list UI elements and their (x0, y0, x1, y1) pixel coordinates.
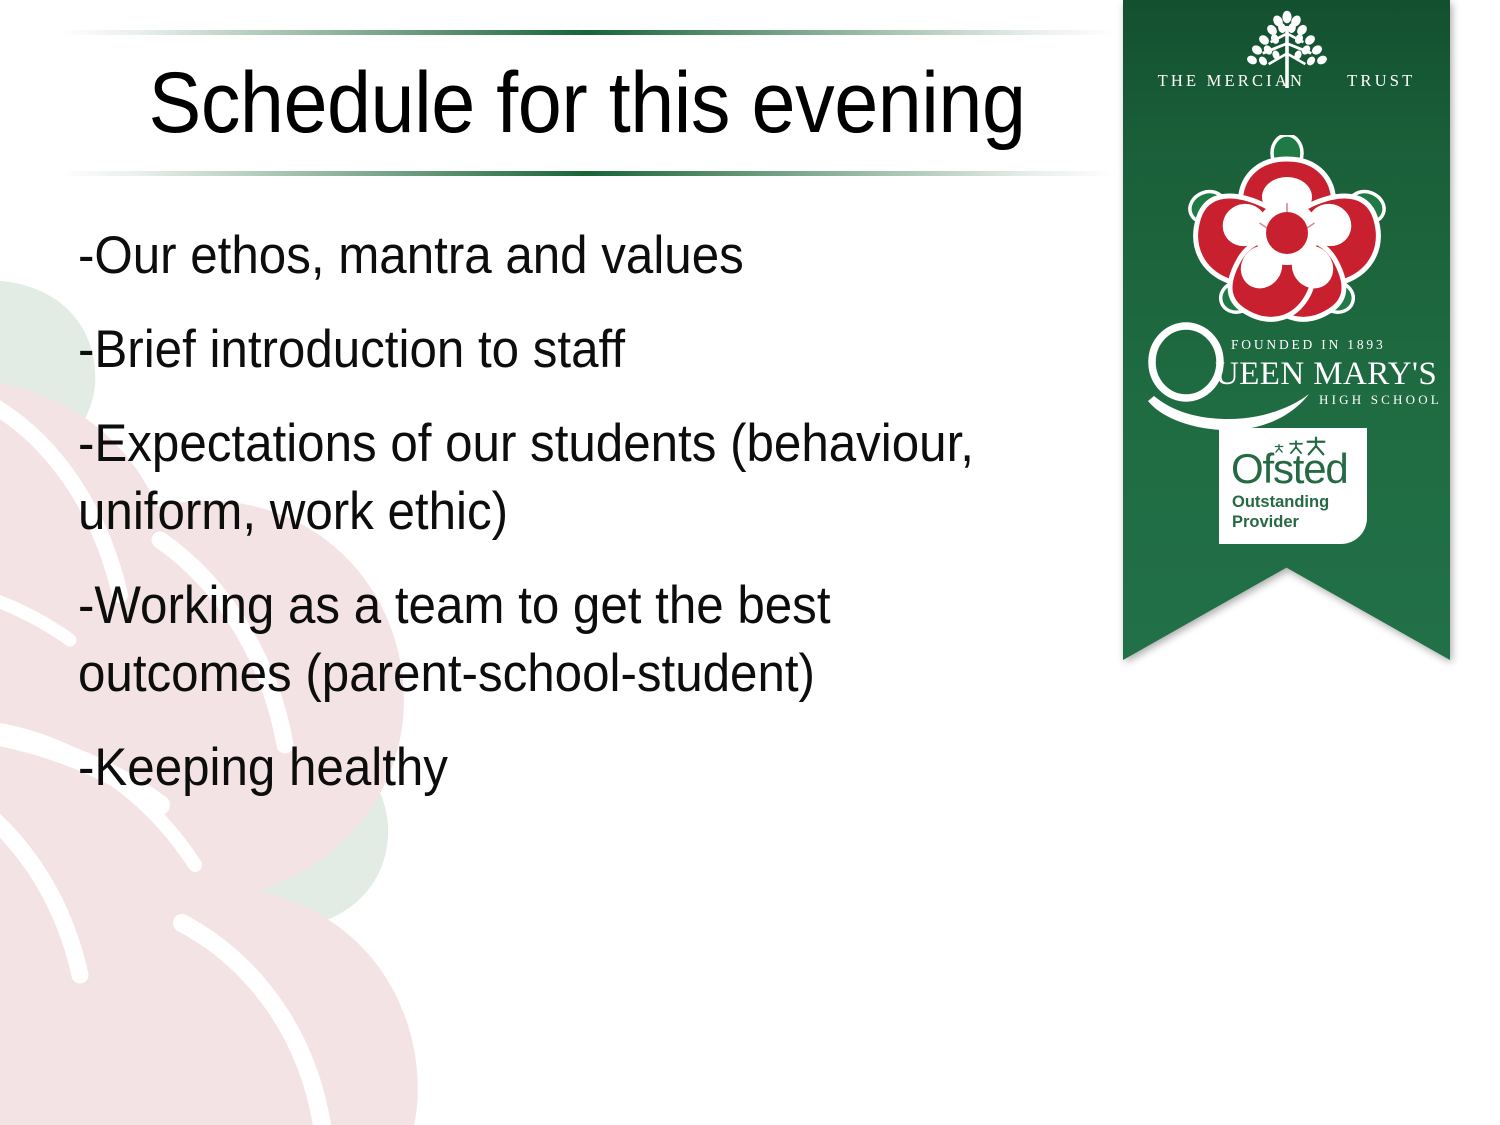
presentation-slide: Schedule for this evening -Our ethos, ma… (0, 0, 1500, 1125)
page-title: Schedule for this evening (99, 37, 1074, 169)
bullet-item: -Working as a team to get the best outco… (78, 572, 1008, 708)
mercian-trust-logo: THE MERCIAN TRUST (1123, 8, 1450, 91)
bullet-item: -Expectations of our students (behaviour… (78, 410, 1008, 546)
trust-name-right: TRUST (1325, 71, 1415, 91)
title-rule-bottom (57, 171, 1117, 176)
ofsted-rating-line1: Outstanding (1232, 492, 1329, 512)
school-banner: THE MERCIAN TRUST (1123, 0, 1450, 660)
founded-text: FOUNDED IN 1893 (1231, 337, 1386, 352)
ofsted-rating-line2: Provider (1232, 512, 1329, 532)
bullet-item: -Brief introduction to staff (78, 316, 1008, 384)
title-rule-top (57, 30, 1117, 35)
tudor-rose-icon (1179, 135, 1394, 325)
bullet-item: -Our ethos, mantra and values (78, 222, 1008, 290)
ofsted-badge: Ofsted Outstanding Provider (1219, 428, 1367, 544)
trust-name-left: THE MERCIAN (1158, 71, 1326, 91)
bullet-item: -Keeping healthy (78, 734, 1008, 802)
ofsted-rating-text: Outstanding Provider (1232, 492, 1329, 532)
title-block: Schedule for this evening (57, 30, 1117, 176)
bullet-list: -Our ethos, mantra and values -Brief int… (78, 222, 1078, 802)
school-name-text: UEEN MARY'S (1215, 356, 1437, 392)
queen-marys-logo: FOUNDED IN 1893 UEEN MARY'S HIGH SCHOOL (1123, 322, 1450, 432)
ofsted-brand-text: Ofsted (1231, 446, 1348, 492)
school-type-text: HIGH SCHOOL (1319, 392, 1442, 407)
